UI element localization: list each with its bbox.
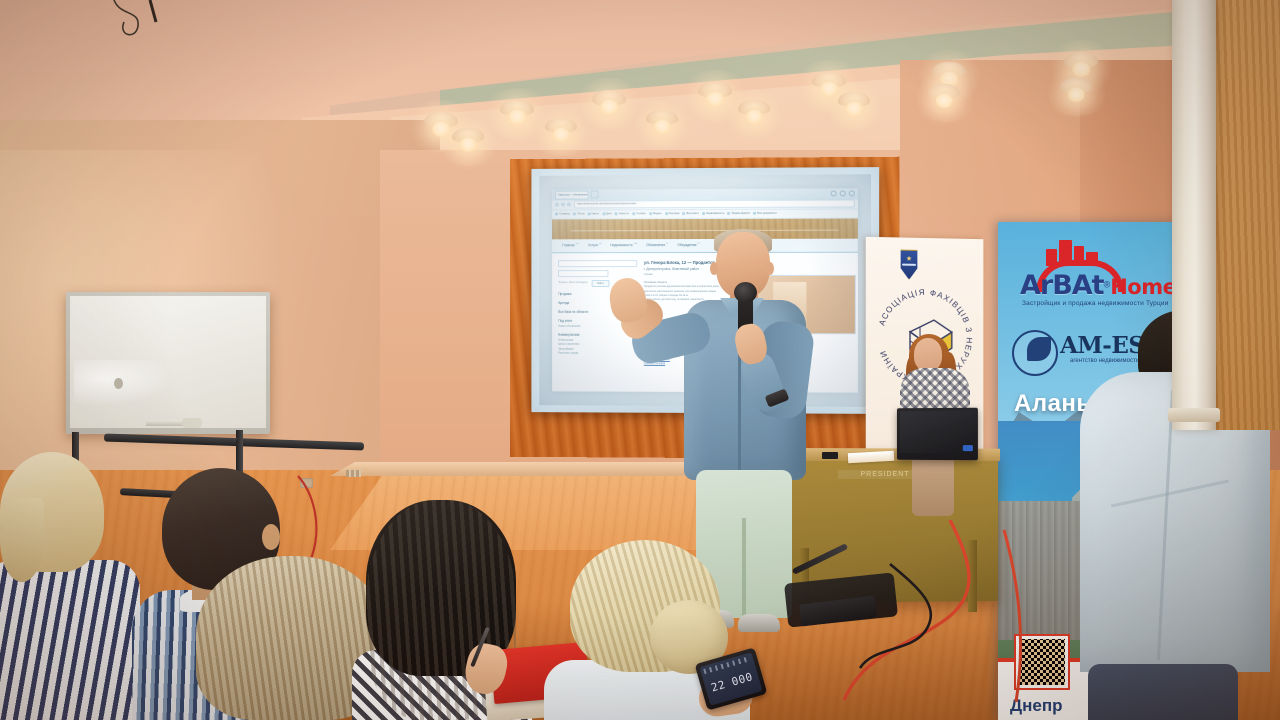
- light-glow: [434, 118, 504, 166]
- forward-icon[interactable]: [561, 203, 565, 207]
- wall-socket: [346, 470, 361, 477]
- registered-icon: ®: [1104, 280, 1111, 290]
- nav-buttons: [555, 203, 571, 207]
- arbat-tagline: Застройщик и продажа недвижимости Турции: [1022, 300, 1169, 307]
- back-icon[interactable]: [555, 203, 559, 207]
- globe-icon: [1012, 330, 1058, 376]
- nav-item[interactable]: Недвижимость189: [610, 243, 637, 247]
- bookmark-item[interactable]: Диск: [602, 213, 612, 216]
- window-controls: [830, 191, 854, 197]
- whiteboard-frame: [66, 292, 270, 434]
- light-glow: [720, 90, 790, 138]
- bookmark-item[interactable]: Яндекс.Директ: [727, 212, 750, 215]
- city-input[interactable]: [558, 270, 609, 277]
- maximize-icon[interactable]: [839, 191, 845, 197]
- nav-item[interactable]: Главная341: [562, 244, 579, 248]
- whiteboard-eraser: [182, 418, 202, 428]
- whiteboard-magnet: [114, 378, 123, 389]
- reload-icon[interactable]: [567, 203, 571, 207]
- laptop[interactable]: [897, 408, 978, 461]
- light-glow: [910, 74, 980, 122]
- microphone-head-icon: [734, 282, 757, 303]
- photo-scene: Квартира — объявление: [0, 0, 1280, 720]
- arbat-logo: ArBAt®Homes Застройщик и продажа недвижи…: [1020, 240, 1194, 314]
- sidebar-sublink[interactable]: Обзор рынка: [558, 339, 637, 342]
- search-button[interactable]: Найти: [591, 280, 609, 287]
- hanging-wire: [110, 0, 180, 48]
- city-crest-icon: ★: [898, 249, 920, 279]
- new-tab-icon[interactable]: [591, 191, 599, 199]
- laptop-badge-icon: [963, 445, 973, 451]
- close-icon[interactable]: [848, 191, 854, 197]
- bookmark-item[interactable]: Новости: [615, 213, 629, 216]
- phone-display-value: 22 000: [704, 668, 759, 695]
- light-glow: [628, 100, 698, 148]
- bookmark-item[interactable]: Мои документы: [753, 212, 777, 215]
- search-input[interactable]: [558, 260, 637, 267]
- bookmark-item[interactable]: Почта: [573, 213, 584, 216]
- bookmark-item[interactable]: Реклама: [665, 212, 680, 215]
- column-cap: [1168, 408, 1220, 422]
- sidebar-sublink[interactable]: Цены и аналитика: [558, 343, 637, 346]
- red-cable: [830, 520, 1080, 710]
- sidebar-sublink[interactable]: Риелторы города: [558, 352, 637, 355]
- bookmark-item[interactable]: Youtube: [632, 213, 646, 216]
- arbat-wordmark: ArBAt®Homes: [1020, 270, 1194, 301]
- structural-column: [1172, 0, 1216, 430]
- browser-tab[interactable]: Квартира — объявление: [555, 190, 589, 199]
- light-glow: [527, 108, 597, 156]
- sidebar-sublink[interactable]: Застройщики: [558, 348, 637, 351]
- bookmark-item[interactable]: Карты: [588, 213, 600, 216]
- light-glow: [1042, 68, 1112, 116]
- nav-item[interactable]: Услуги28: [588, 244, 601, 248]
- am-estate-tagline: агентство недвижимости: [1070, 358, 1139, 364]
- minimize-icon[interactable]: [830, 191, 836, 197]
- bookmark-item[interactable]: Сервисы: [555, 213, 570, 216]
- bookmark-item[interactable]: Вконтакте: [682, 212, 699, 215]
- url-input[interactable]: https://www.domik.ua/nedvizhimost/prodaz…: [574, 200, 854, 209]
- bookmark-item[interactable]: Яндекс: [649, 213, 662, 216]
- photo-filter-label: Только с фото (Сегодня): [558, 281, 587, 285]
- bookmark-item[interactable]: Недвижимость: [702, 212, 725, 215]
- right-wall-strip: [1216, 0, 1280, 430]
- light-glow: [820, 82, 890, 130]
- arbat-text: ArBAt: [1020, 270, 1104, 301]
- audience-member-blonde-left: [0, 452, 127, 720]
